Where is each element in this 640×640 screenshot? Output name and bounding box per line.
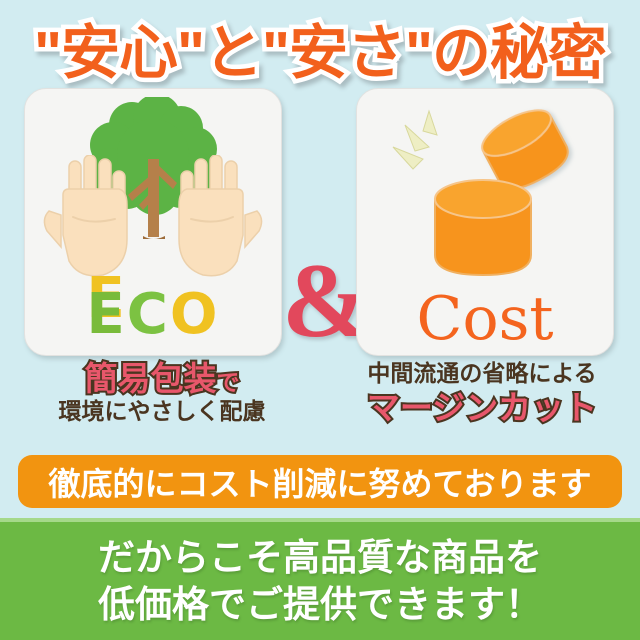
hand-icon — [39, 155, 135, 281]
captions-row: 簡易包装で 環境にやさしく配慮 中間流通の省略による マージンカット — [0, 360, 640, 446]
ampersand-connector: & — [282, 248, 356, 354]
orange-message-text: 徹底的にコスト削減に努めております — [48, 459, 591, 505]
green-footer: だからこそ高品質な商品を 低価格でご提供できます！ — [0, 518, 640, 640]
caption-cost-headline: マージンカット — [332, 389, 632, 427]
promo-banner: "安心"と"安さ"の秘密 — [0, 0, 640, 640]
orange-message-strip: 徹底的にコスト削減に努めております — [18, 455, 622, 508]
title-area: "安心"と"安さ"の秘密 — [0, 8, 640, 86]
caption-cost-sub: 中間流通の省略による — [332, 360, 632, 388]
caption-eco: 簡易包装で 環境にやさしく配慮 — [12, 360, 312, 426]
caption-cost: 中間流通の省略による マージンカット — [332, 360, 632, 427]
coin-stack-icon — [435, 180, 531, 275]
page-title: "安心"と"安さ"の秘密 — [34, 5, 606, 90]
caption-eco-sub: 環境にやさしく配慮 — [12, 398, 312, 426]
caption-eco-headline-suffix: で — [217, 369, 240, 395]
cost-artwork — [357, 89, 613, 285]
cost-word: Cost — [357, 289, 613, 349]
card-cost: Cost — [356, 88, 614, 356]
card-eco: ECO — [24, 88, 282, 356]
eco-letter-e: E — [87, 282, 127, 347]
cards-row: ECO & — [0, 88, 640, 358]
eco-artwork — [25, 89, 281, 285]
eco-word: ECO — [25, 287, 281, 343]
eco-letter-c: C — [127, 282, 170, 347]
eco-letter-o: O — [170, 282, 220, 347]
footer-line-2: 低価格でご提供できます！ — [98, 581, 542, 628]
sparkle-icon — [393, 111, 437, 169]
hand-icon — [171, 155, 267, 281]
footer-line-1: だからこそ高品質な商品を — [98, 534, 542, 581]
caption-eco-headline-main: 簡易包装 — [85, 360, 217, 397]
caption-eco-headline: 簡易包装で — [12, 360, 312, 398]
coin-stack-group — [357, 89, 614, 289]
